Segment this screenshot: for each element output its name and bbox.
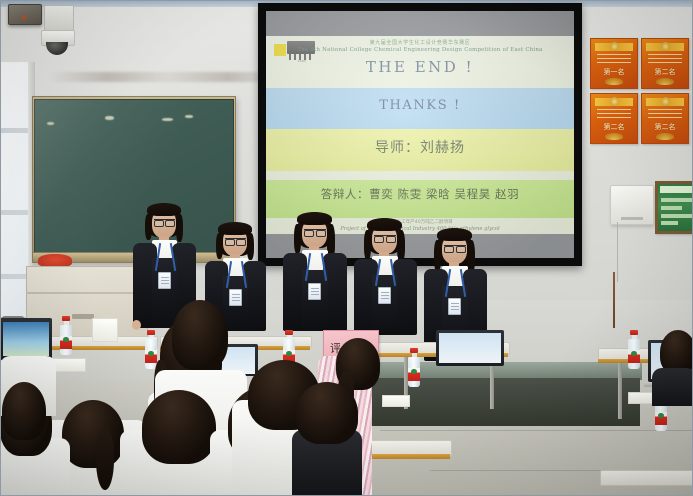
camera-mount [44,5,74,33]
id-badge [158,272,171,289]
id-badge [448,298,461,315]
chalk-mark [105,116,114,120]
podium-seam [26,292,146,294]
classroom-defense-photo: CCDC 第九届全国大学生化工设计竞赛华东赛区 The 9th National… [0,0,693,496]
chalk-mark [162,118,173,121]
chalk-mark [185,115,193,118]
seal-icon [610,42,619,51]
slide-advisor-text: 导师：刘赫扬 [266,137,574,157]
speaker-cord [617,222,618,282]
certificate: 第二名 [641,93,689,144]
id-badge [308,283,321,300]
certificate: 第一名 [590,38,638,89]
paper-sheet [382,395,410,407]
podium-handle [72,314,94,319]
slide-the-end-text: THE END ! [266,58,574,76]
blackboard-glare [34,99,232,254]
paper-sheet [92,318,118,342]
slide-thanks-text: THANKS ! [266,98,574,113]
pointer-stick [613,272,615,328]
seal-icon [610,97,619,106]
certificate-rank: 第一名 [591,67,637,77]
seal-icon [661,42,670,51]
stage-platform-face [330,378,640,426]
certificate: 第二名 [641,38,689,89]
wall-speaker [610,185,654,225]
speaker-indicator-icon [21,15,26,20]
certificate-rank: 第二名 [642,67,688,77]
slide-header-chinese: 第九届全国大学生化工设计竞赛华东赛区 [266,39,574,46]
slide-presenters-text: 答辩人：曹奕 陈雯 梁晗 吴程昊 赵羽 [266,186,574,202]
presentation-slide: CCDC 第九届全国大学生化工设计竞赛华东赛区 The 9th National… [266,36,574,234]
wall-stain [48,72,288,82]
id-badge [378,287,391,304]
certificate-rank: 第二名 [642,122,688,132]
ceiling-speaker [8,4,42,25]
certificate-rank: 第二名 [591,122,637,132]
id-badge [229,289,242,306]
table [600,470,693,486]
slide-band-gap [266,171,574,180]
certificate: 第二名 [590,93,638,144]
seal-icon [661,97,670,106]
notice-board [655,181,693,234]
chalk-mark [47,122,54,125]
slide-header-english: The 9th National College Chemical Engine… [266,47,574,53]
